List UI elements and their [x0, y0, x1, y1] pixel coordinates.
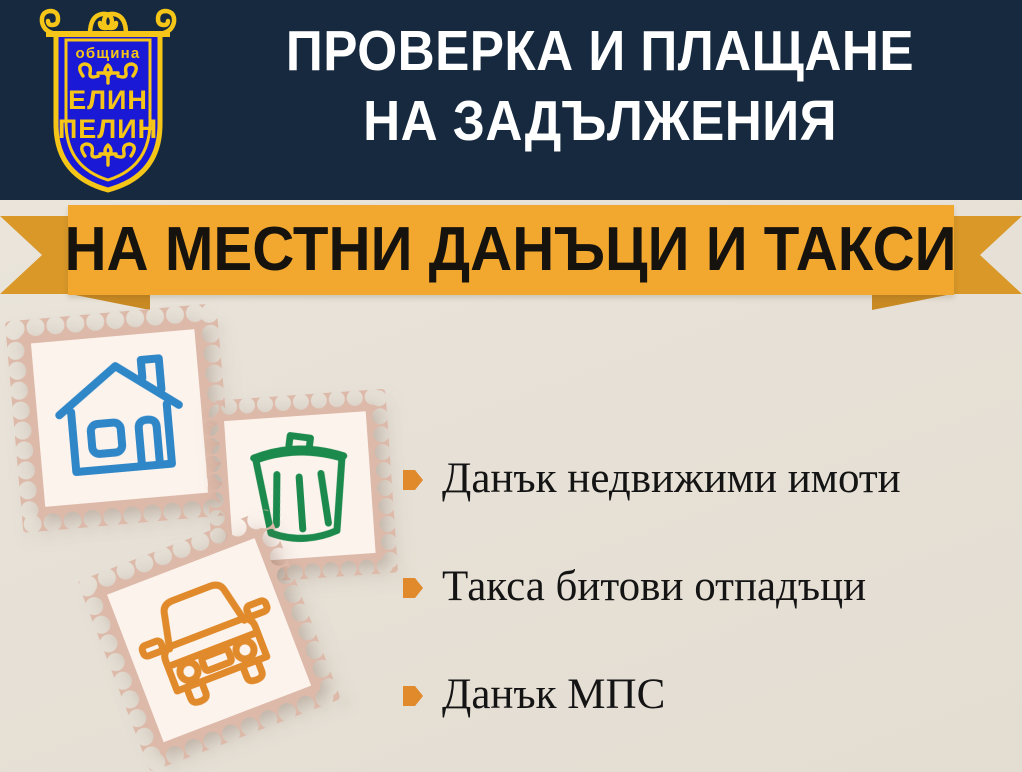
list-item-label: Такса битови отпадъци	[442, 562, 866, 612]
tax-types-list: Данък недвижими имоти Такса битови отпад…	[402, 425, 1012, 749]
ribbon-banner: НА МЕСТНИ ДАНЪЦИ И ТАКСИ	[0, 200, 1022, 308]
ribbon-fold-right	[872, 294, 952, 310]
logo-text-pelin: ПЕЛИН	[58, 114, 158, 144]
municipality-logo: община ЕЛИН ПЕЛИН	[28, 4, 188, 196]
ribbon-label: НА МЕСТНИ ДАНЪЦИ И ТАКСИ	[65, 219, 957, 281]
header-title-block: ПРОВЕРКА И ПЛАЩАНЕ НА ЗАДЪЛЖЕНИЯ	[190, 16, 1010, 156]
arrow-bullet-icon	[402, 683, 424, 709]
header-bar: община ЕЛИН ПЕЛИН	[0, 0, 1022, 200]
list-item-label: Данък недвижими имоти	[442, 454, 901, 504]
list-item-label: Данък МПС	[442, 670, 665, 720]
ribbon-fold-left	[70, 294, 150, 310]
arrow-bullet-icon	[402, 467, 424, 493]
property-stamp-graphic	[5, 303, 235, 533]
coat-of-arms-icon: община ЕЛИН ПЕЛИН	[28, 4, 188, 196]
list-item[interactable]: Данък недвижими имоти	[402, 425, 1012, 533]
logo-text-elin: ЕЛИН	[68, 85, 148, 115]
ribbon-main-panel: НА МЕСТНИ ДАНЪЦИ И ТАКСИ	[68, 205, 954, 295]
page-title-line-2: НА ЗАДЪЛЖЕНИЯ	[231, 86, 969, 156]
arrow-bullet-icon	[402, 575, 424, 601]
stamp-card-property	[5, 303, 235, 538]
page-title-line-1: ПРОВЕРКА И ПЛАЩАНЕ	[231, 16, 969, 86]
logo-text-obshtina: община	[76, 45, 141, 62]
list-item[interactable]: Данък МПС	[402, 641, 1012, 749]
list-item[interactable]: Такса битови отпадъци	[402, 533, 1012, 641]
poster-canvas: община ЕЛИН ПЕЛИН	[0, 0, 1022, 772]
